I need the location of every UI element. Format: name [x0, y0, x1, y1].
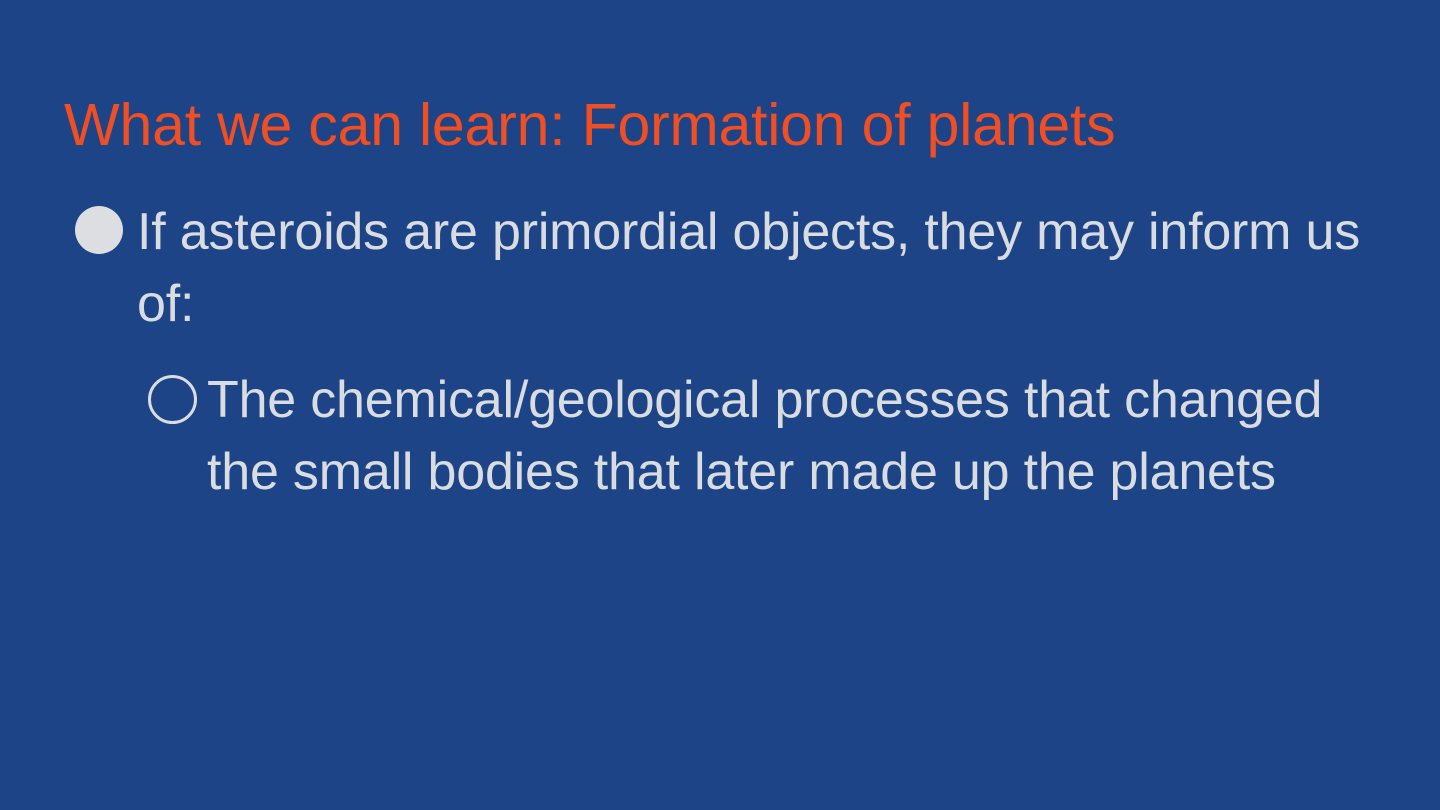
slide-title: What we can learn: Formation of planets [64, 90, 1364, 160]
hollow-circle-bullet-icon [148, 375, 197, 424]
presentation-slide: What we can learn: Formation of planets … [0, 0, 1440, 810]
filled-circle-bullet-icon [75, 206, 123, 254]
slide-body: If asteroids are primordial objects, the… [64, 196, 1374, 508]
bullet-level1: If asteroids are primordial objects, the… [64, 196, 1374, 340]
bullet-level2: The chemical/geological processes that c… [64, 364, 1374, 508]
bullet-level2-text: The chemical/geological processes that c… [207, 364, 1374, 508]
bullet-level1-text: If asteroids are primordial objects, the… [137, 196, 1374, 340]
